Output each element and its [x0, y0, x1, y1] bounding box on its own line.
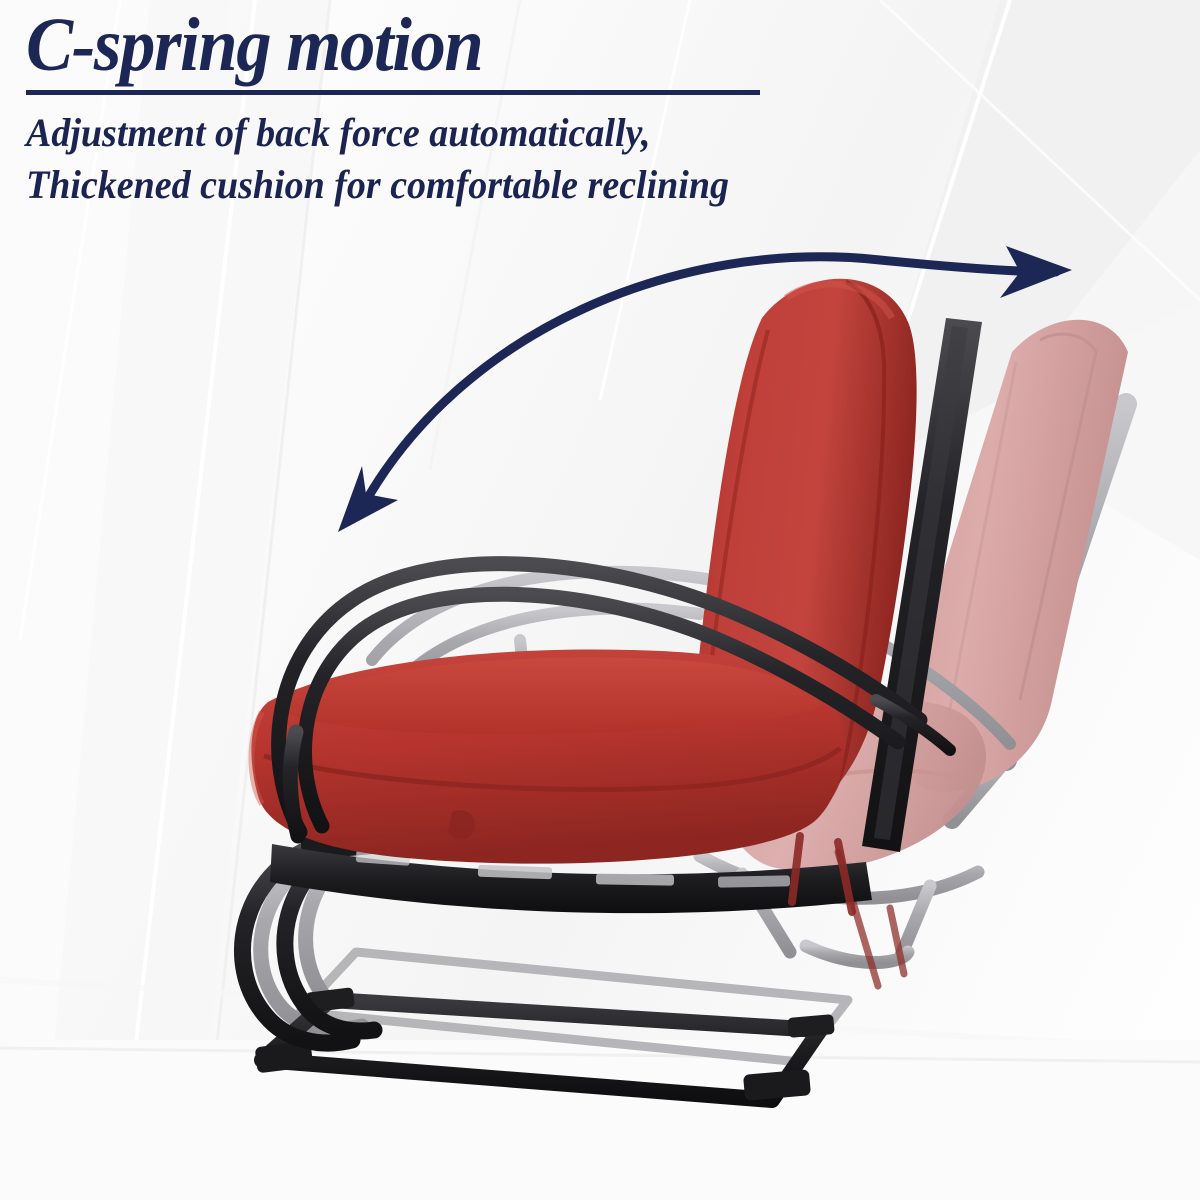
headline-block: C-spring motion Adjustment of back force…: [26, 8, 1026, 210]
product-feature-image: C-spring motion Adjustment of back force…: [0, 0, 1200, 1200]
subtitle-line-2: Thickened cushion for comfortable reclin…: [26, 159, 976, 210]
seat-cushion: [251, 650, 844, 864]
page-title: C-spring motion: [26, 8, 956, 82]
subtitle: Adjustment of back force automatically, …: [26, 107, 976, 209]
subtitle-line-1: Adjustment of back force automatically,: [26, 107, 976, 158]
title-underline-rule: [26, 90, 760, 95]
